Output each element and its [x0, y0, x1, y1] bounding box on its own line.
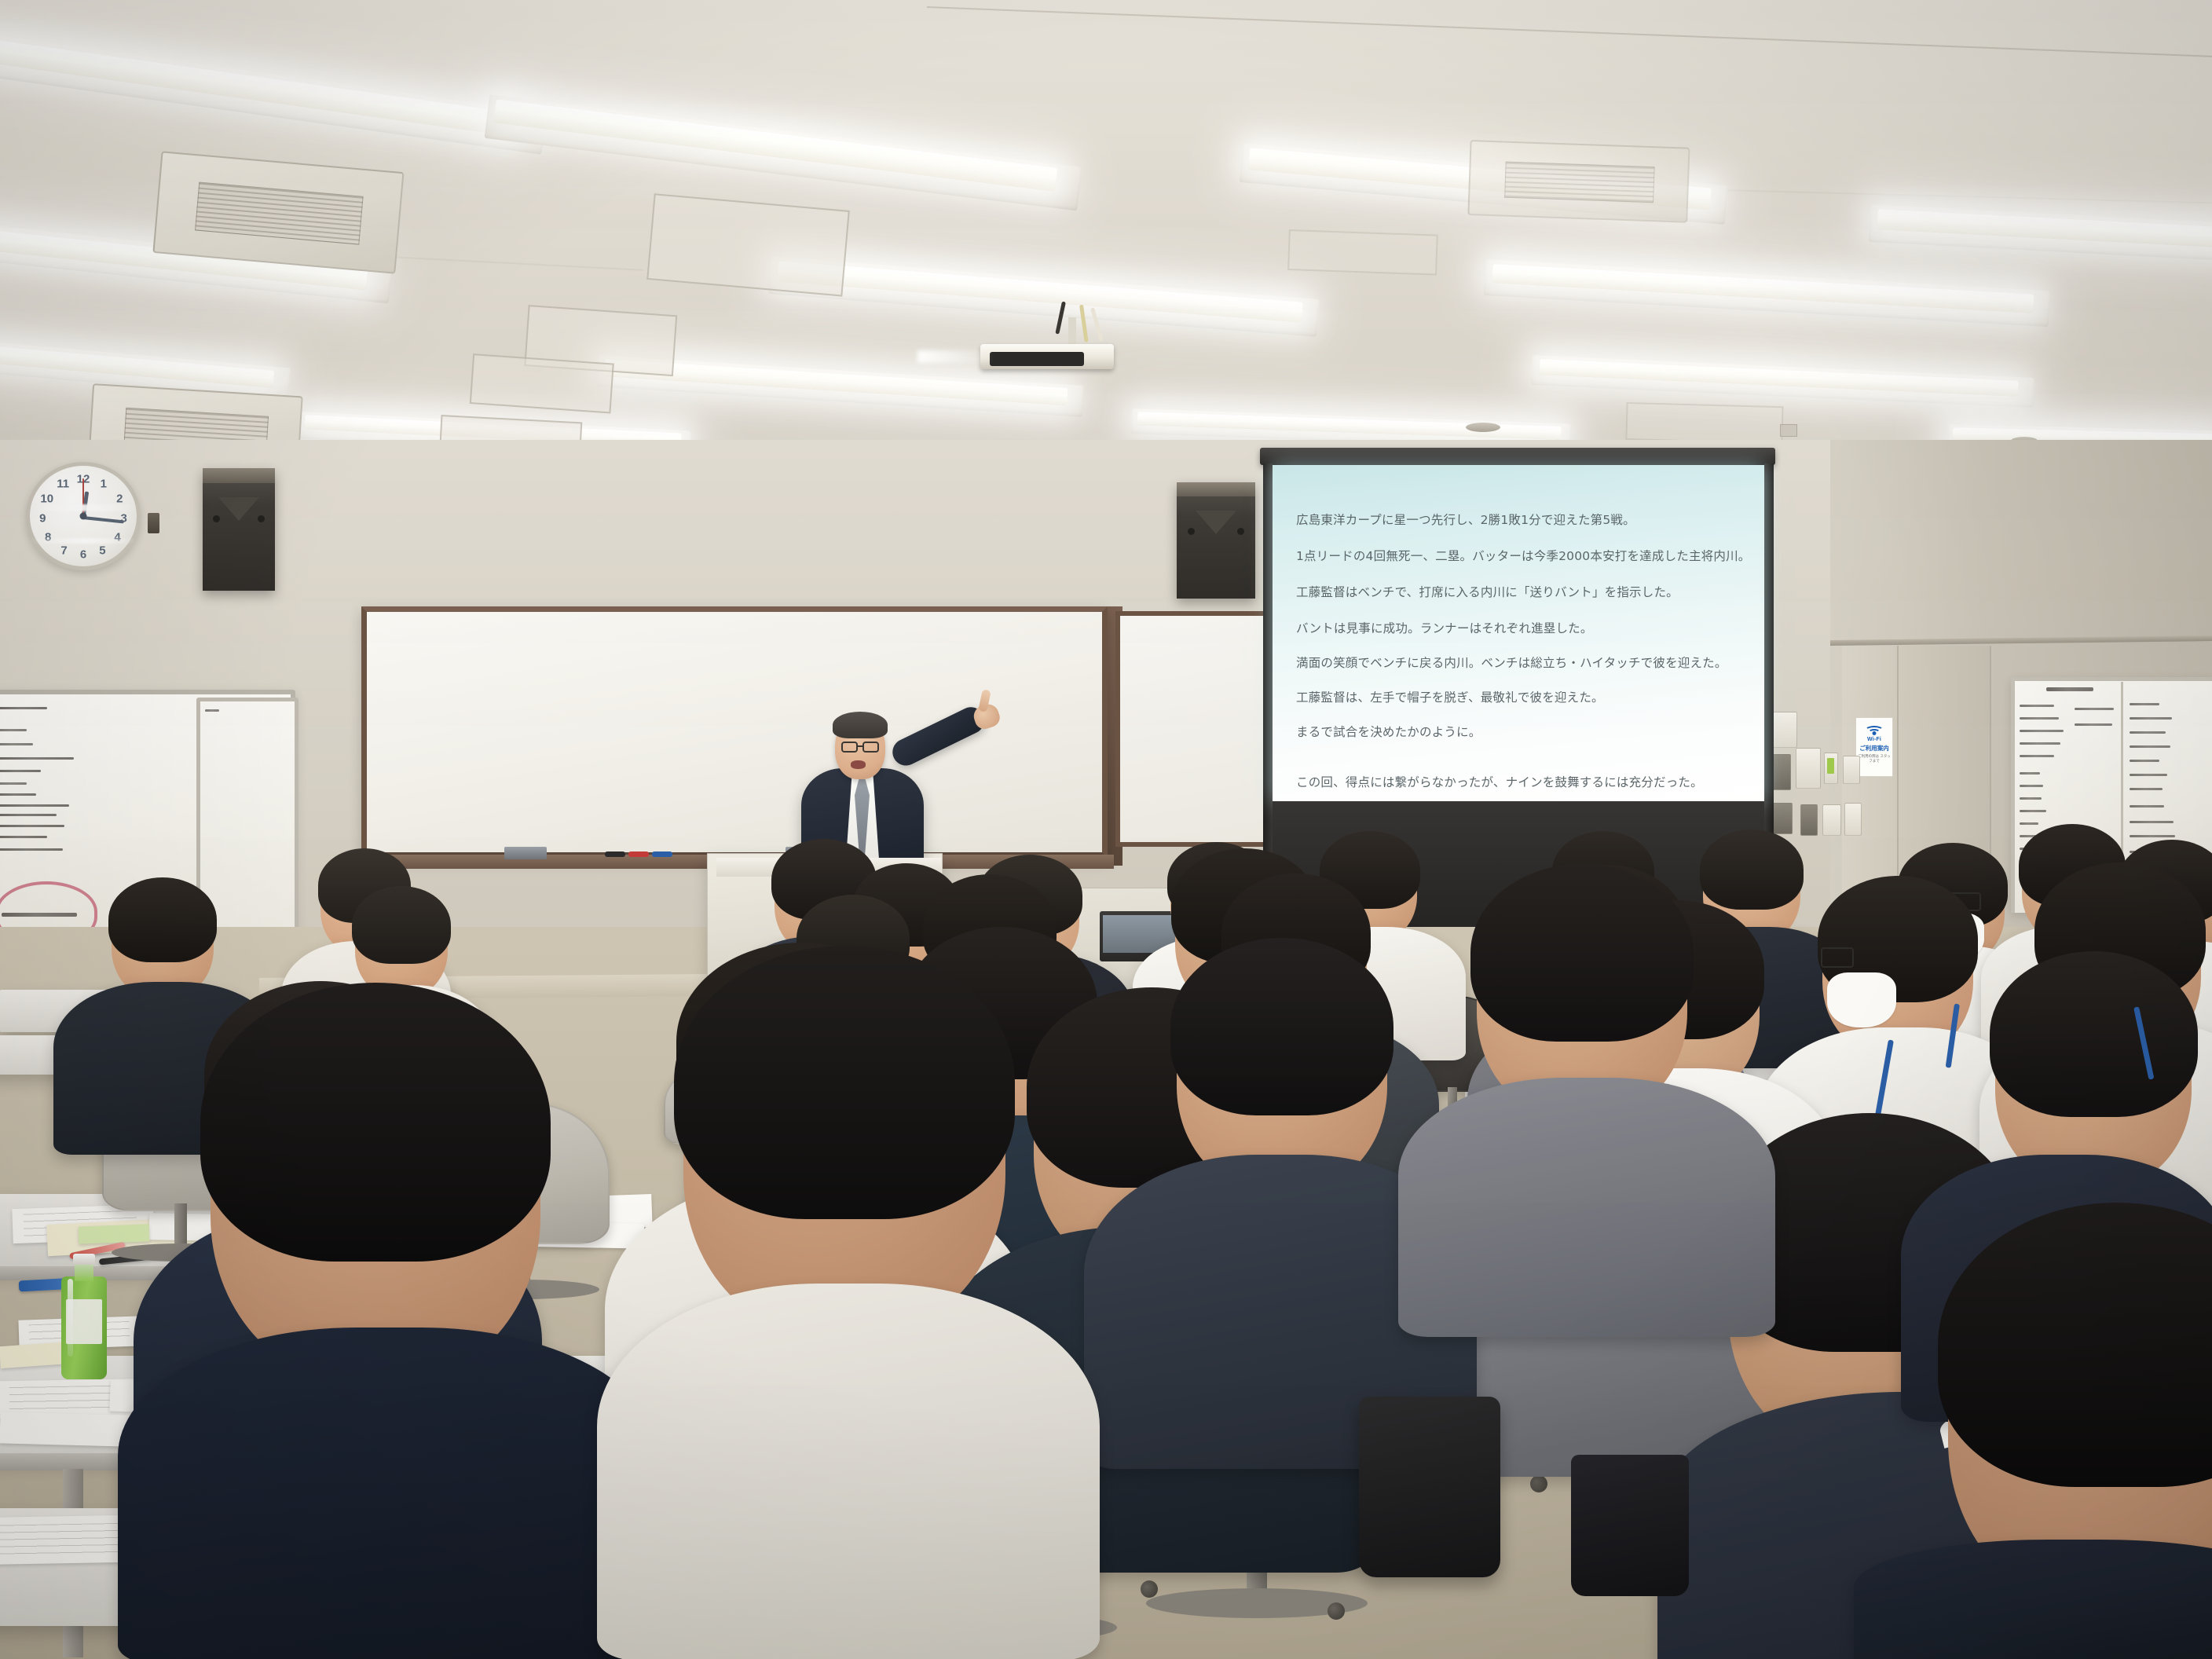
attendee — [211, 1005, 540, 1382]
green-tea-bottle[interactable] — [61, 1254, 107, 1379]
attendee-torso — [1854, 1540, 2212, 1659]
chair-wheel — [1328, 1602, 1345, 1620]
eyeglasses-icon — [1821, 947, 1854, 968]
slide-line: 満面の笑顔でベンチに戻る内川。ベンチは総立ち・ハイタッチで彼を迎えた。 — [1296, 654, 1727, 671]
slide-line: 工藤監督はベンチで、打席に入る内川に「送りバント」を指示した。 — [1296, 583, 1679, 600]
wall-switch-plate[interactable] — [1822, 804, 1841, 836]
wall-outlet[interactable] — [1800, 804, 1818, 836]
ac-cassette-unit — [1467, 140, 1690, 223]
ceiling-projector — [980, 328, 1114, 369]
whiteboard-marker[interactable] — [652, 851, 672, 857]
slide-line: バントは見事に成功。ランナーはそれぞれ進塁した。 — [1296, 619, 1593, 636]
whiteboard-marker[interactable] — [605, 851, 625, 857]
wall-clock: 12 1 2 3 4 5 6 7 8 9 10 11 — [26, 462, 141, 570]
slide-line: まるで試合を決めたかのように。 — [1296, 723, 1481, 740]
wall-indicator-plate — [1824, 753, 1838, 784]
slide-line: 1点リードの4回無死一、二塁。バッターは今季2000本安打を達成した主将内川。 — [1296, 547, 1750, 564]
wall-switch-plate[interactable] — [1844, 803, 1862, 836]
projector-body — [980, 344, 1114, 369]
attendee-torso — [597, 1284, 1100, 1659]
ac-cassette-unit — [152, 151, 404, 274]
wifi-sign-line2: ご利用案内 — [1859, 744, 1889, 753]
attendee — [355, 892, 448, 998]
eyeglasses-icon — [841, 742, 858, 753]
chair-wheel — [1141, 1580, 1158, 1598]
presenter-hair — [833, 712, 888, 738]
wall-switch[interactable] — [148, 513, 159, 533]
wall-speaker — [1177, 482, 1255, 599]
eyeglasses-bridge — [858, 745, 862, 747]
seminar-room-photo: Wi-Fi ご利用案内 ご利用の際は スタッフまで 12 1 2 3 4 5 6… — [0, 0, 2212, 1659]
attendee-torso — [1398, 1078, 1775, 1337]
whiteboard-eraser[interactable] — [504, 847, 547, 859]
ceiling-vent — [1780, 424, 1797, 437]
presenter-mouth — [851, 760, 866, 769]
wall-switch-plate[interactable] — [1843, 756, 1860, 784]
bag — [1359, 1397, 1500, 1577]
projector-beam — [917, 350, 993, 363]
wall-switch-plate[interactable] — [1771, 712, 1797, 748]
ceiling-access-panel — [646, 193, 850, 296]
wall-speaker — [203, 468, 275, 591]
wifi-sign-line1: Wi-Fi — [1867, 737, 1881, 742]
whiteboard-highlight-text — [2, 913, 77, 917]
projector-lens-housing — [990, 352, 1084, 366]
ceiling-access-panel — [1287, 229, 1438, 276]
screen-roller-casing — [1260, 448, 1775, 465]
projector-mount — [1068, 317, 1076, 344]
whiteboard-marker[interactable] — [628, 851, 649, 857]
attendee-torso — [118, 1328, 660, 1659]
ceiling-access-panel — [1625, 402, 1783, 444]
wall-switch-plate[interactable] — [1796, 748, 1821, 789]
whiteboard-heading — [2046, 687, 2093, 691]
wifi-sign: Wi-Fi ご利用案内 ご利用の際は スタッフまで — [1855, 717, 1893, 777]
main-whiteboard[interactable] — [361, 606, 1108, 858]
eyeglasses-icon — [862, 742, 879, 753]
chair-wheel — [1530, 1475, 1547, 1492]
ceiling-access-panel — [470, 353, 614, 413]
smoke-detector-icon — [1466, 423, 1500, 432]
attendee — [683, 968, 1005, 1337]
slide-line: 広島東洋カープに星一つ先行し、2勝1敗1分で迎えた第5戦。 — [1296, 511, 1635, 528]
face-mask — [1827, 972, 1896, 1027]
bag — [1571, 1455, 1689, 1596]
slide-content: 広島東洋カープに星一つ先行し、2勝1敗1分で迎えた第5戦。 1点リードの4回無死… — [1273, 465, 1764, 801]
wifi-sign-line3: ご利用の際は スタッフまで — [1856, 754, 1892, 763]
wifi-icon — [1864, 722, 1884, 735]
slide-line: この回、得点には繋がらなかったが、ナインを鼓舞するには充分だった。 — [1296, 773, 1703, 790]
ceiling — [0, 0, 2212, 471]
slide-line: 工藤監督は、左手で帽子を脱ぎ、最敬礼で彼を迎えた。 — [1296, 688, 1604, 705]
